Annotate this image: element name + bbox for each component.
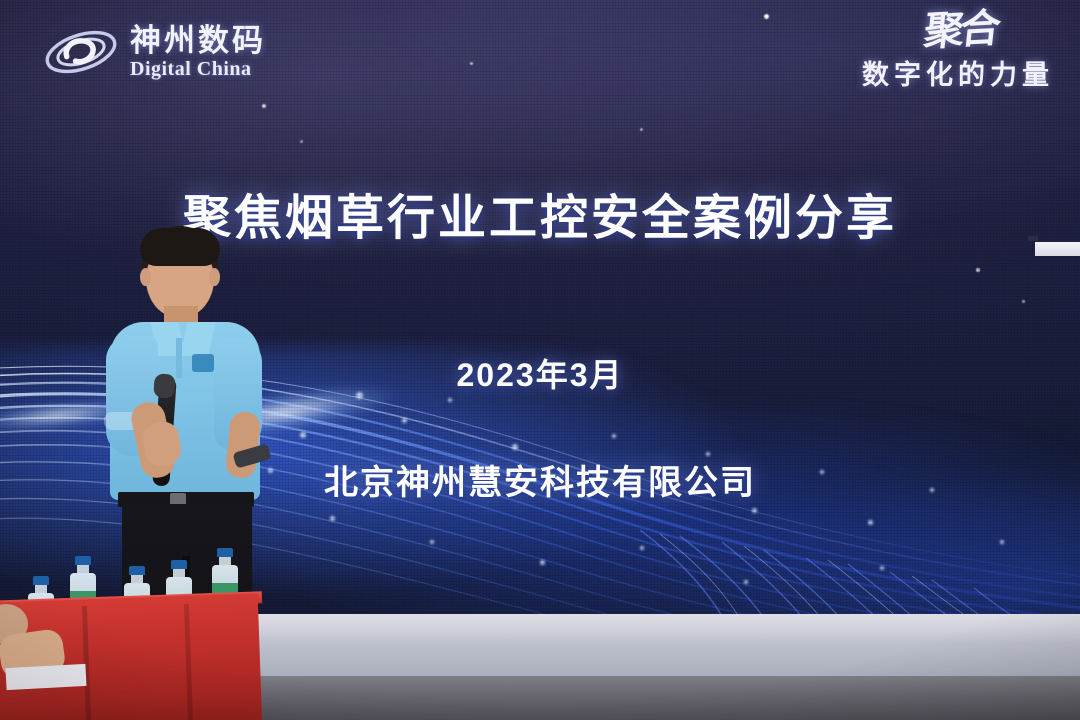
paper-document: [5, 664, 86, 690]
digital-china-wordmark: 神州数码 Digital China: [130, 25, 266, 79]
screen-edge-highlight: [1035, 242, 1080, 256]
event-calligraphy: 聚合: [860, 11, 999, 55]
digital-china-logo: 神州数码 Digital China: [42, 22, 266, 82]
event-logo: 聚合 数字化的力量: [862, 14, 1054, 92]
conference-photo: 神州数码 Digital China 聚合 数字化的力量 聚焦烟草行业工控安全案…: [0, 0, 1080, 720]
stage-floor-shadow: [250, 676, 1080, 720]
speaker-ear-left: [140, 268, 151, 286]
digital-china-swirl-icon: [42, 22, 120, 82]
speaker-shirt-placket: [176, 338, 182, 378]
speaker-ear-right: [209, 268, 220, 286]
brand-name-en: Digital China: [130, 59, 266, 79]
event-slogan: 数字化的力量: [862, 53, 1054, 92]
brand-name-cn: 神州数码: [130, 25, 266, 56]
screen-edge-shadow: [1028, 236, 1038, 241]
speaker-hair-top: [140, 228, 220, 266]
microphone-head: [153, 373, 176, 398]
shirt-logo-icon: [192, 354, 214, 372]
